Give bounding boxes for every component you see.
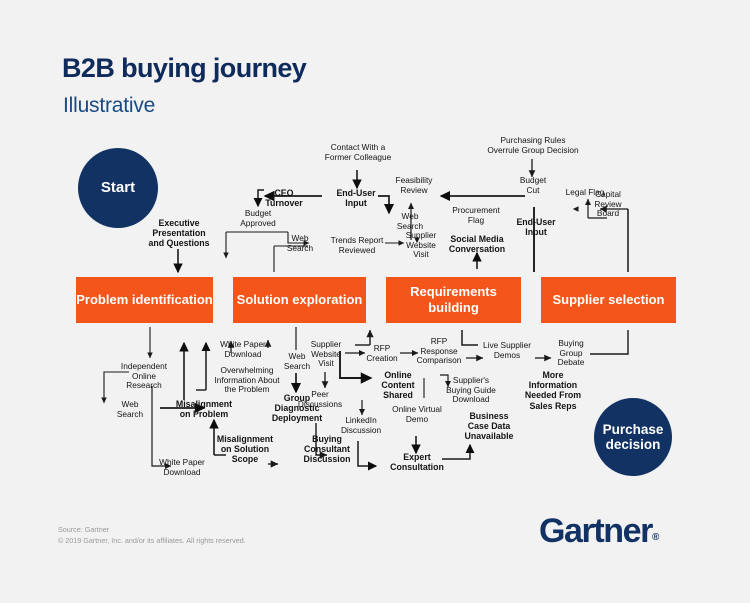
node-supplier-website-visit-lower: Supplier Website Visit	[304, 340, 348, 369]
node-buying-consultant-discussion: Buying Consultant Discussion	[290, 434, 364, 465]
node-business-case-data-unavailable: Business Case Data Unavailable	[461, 411, 517, 442]
diagram-canvas: B2B buying journey Illustrative Start Pu…	[0, 0, 750, 603]
node-executive-presentation-and-questions: Executive Presentation and Questions	[134, 218, 224, 249]
node-linkedin-discussion: LinkedIn Discussion	[335, 416, 387, 435]
node-expert-consultation: Expert Consultation	[384, 452, 450, 472]
source-credit: Source: Gartner © 2019 Gartner, Inc. and…	[58, 524, 246, 546]
node-independent-online-research: Independent Online Research	[113, 362, 175, 391]
node-more-information-needed-from-sales-reps: More Information Needed From Sales Reps	[517, 370, 589, 411]
node-purchasing-rules-overrule-group-decision: Purchasing Rules Overrule Group Decision	[481, 136, 585, 155]
node-buying-group-debate: Buying Group Debate	[549, 339, 593, 368]
node-rfp-response-comparison: RFP Response Comparison	[412, 337, 466, 366]
stage-solution-exploration: Solution exploration	[233, 277, 366, 323]
node-suppliers-buying-guide-download: Supplier's Buying Guide Download	[443, 376, 499, 405]
node-online-content-shared: Online Content Shared	[372, 370, 424, 401]
registered-mark-icon: ®	[652, 532, 659, 543]
stage-problem-identification: Problem identification	[76, 277, 213, 323]
gartner-logo: Gartner®	[539, 512, 659, 551]
node-misalignment-on-solution-scope: Misalignment on Solution Scope	[207, 434, 283, 465]
node-budget-approved: Budget Approved	[228, 209, 288, 228]
page-subtitle: Illustrative	[63, 94, 155, 118]
node-web-search-upper-mid: Web Search	[390, 212, 430, 231]
node-procurement-flag: Procurement Flag	[443, 206, 509, 225]
node-feasibility-review: Feasibility Review	[390, 176, 438, 195]
purchase-decision-node: Purchase decision	[594, 398, 672, 476]
node-budget-cut: Budget Cut	[513, 176, 553, 195]
node-web-search-lower-left: Web Search	[110, 400, 150, 419]
node-capital-review-board: Capital Review Board	[587, 190, 629, 219]
node-online-virtual-demo: Online Virtual Demo	[384, 405, 450, 424]
node-white-paper-download-lower-left: White Paper Download	[148, 458, 216, 477]
node-web-search-upper-left: Web Search	[281, 234, 319, 253]
node-live-supplier-demos: Live Supplier Demos	[478, 341, 536, 360]
start-node: Start	[78, 148, 158, 228]
node-social-media-conversation: Social Media Conversation	[438, 234, 516, 254]
node-ceo-turnover: CEO Turnover	[256, 188, 312, 208]
stage-requirements-building: Requirements building	[386, 277, 521, 323]
page-title: B2B buying journey	[62, 53, 306, 84]
node-peer-discussions: Peer Discussions	[291, 390, 349, 409]
stage-supplier-selection: Supplier selection	[541, 277, 676, 323]
node-misalignment-on-problem: Misalignment on Problem	[163, 399, 245, 419]
node-supplier-website-visit-upper: Supplier Website Visit	[399, 231, 443, 260]
node-trends-report-reviewed: Trends Report Reviewed	[322, 236, 392, 255]
node-end-user-input-right: End-User Input	[508, 217, 564, 237]
node-contact-with-a-former-colleague: Contact With a Former Colleague	[315, 143, 401, 162]
node-rfp-creation: RFP Creation	[361, 344, 403, 363]
node-white-paper-download-upper: White Paper Download	[210, 340, 276, 359]
gartner-logo-text: Gartner	[539, 512, 652, 550]
node-end-user-input-left: End-User Input	[325, 188, 387, 208]
